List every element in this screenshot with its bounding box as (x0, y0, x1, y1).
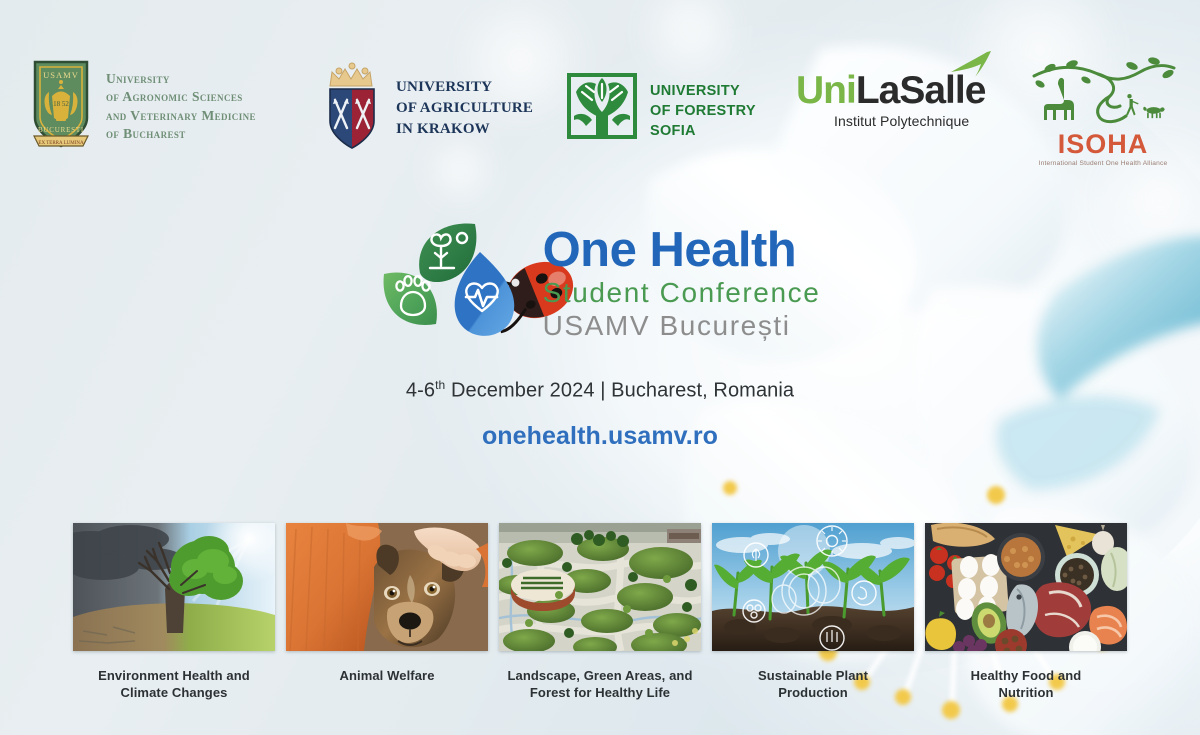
sofia-line-1: UNIVERSITY (650, 81, 756, 101)
isoha-wordmark: ISOHA (1058, 131, 1149, 158)
usamv-line-1: University (106, 70, 256, 89)
logo-university-of-forestry-sofia: UNIVERSITY OF FORESTRY SOFIA (566, 72, 756, 149)
conference-poster: USAMV 18 52 BUCURESTI EX TERRA LUMINA (0, 0, 1200, 735)
topic-caption-line1: Sustainable Plant (712, 667, 914, 684)
topic-image-animal-welfare (286, 523, 488, 651)
topic-caption-line2: Climate Changes (73, 684, 275, 701)
topic-caption-line1: Animal Welfare (286, 667, 488, 684)
sofia-name: UNIVERSITY OF FORESTRY SOFIA (650, 81, 756, 141)
usamv-name: University of Agronomic Sciences and Vet… (106, 70, 256, 144)
logo-unilasalle: UniLaSalle Institut Polytechnique (796, 70, 985, 129)
logo-isoha: ISOHA International Student One Health A… (1028, 50, 1178, 167)
topic-image-landscape-green-areas (499, 523, 701, 651)
date-rest: December 2024 | Bucharest, Romania (445, 380, 794, 402)
sofia-line-3: SOFIA (650, 121, 756, 141)
conference-title: One Health (543, 224, 821, 276)
topic-card[interactable]: Environment Health and Climate Changes (73, 523, 275, 701)
krakow-line-3: IN KRAKOW (396, 119, 533, 140)
krakow-name: UNIVERSITY OF AGRICULTURE IN KRAKOW (396, 77, 533, 140)
topic-caption: Environment Health and Climate Changes (73, 667, 275, 701)
svg-text:EX TERRA LUMINA: EX TERRA LUMINA (38, 141, 84, 146)
conference-date-location: 4-6th December 2024 | Bucharest, Romania (0, 378, 1200, 403)
svg-text:BUCURESTI: BUCURESTI (38, 126, 84, 134)
unilasalle-subtitle: Institut Polytechnique (834, 113, 985, 129)
topic-card[interactable]: Healthy Food and Nutrition (925, 523, 1127, 701)
topic-card[interactable]: Animal Welfare (286, 523, 488, 701)
usamv-line-2: of Agronomic Sciences (106, 88, 256, 107)
sofia-tree-icon (566, 72, 638, 149)
topic-caption: Landscape, Green Areas, and Forest for H… (499, 667, 701, 701)
logo-university-of-agriculture-krakow: UNIVERSITY OF AGRICULTURE IN KRAKOW (320, 60, 533, 157)
isoha-vine-icon (1028, 50, 1178, 133)
svg-text:USAMV: USAMV (43, 70, 79, 80)
partner-logo-strip: USAMV 18 52 BUCURESTI EX TERRA LUMINA (0, 46, 1200, 166)
unilasalle-star-icon (947, 50, 993, 78)
usamv-line-3: and Veterinary Medicine (106, 107, 256, 126)
topic-caption-line2: Nutrition (925, 684, 1127, 701)
topic-card[interactable]: Landscape, Green Areas, and Forest for H… (499, 523, 701, 701)
topic-image-environment-climate (73, 523, 275, 651)
topic-image-sustainable-plant-production (712, 523, 914, 651)
topic-card[interactable]: Sustainable Plant Production (712, 523, 914, 701)
conference-website-url[interactable]: onehealth.usamv.ro (0, 422, 1200, 451)
topic-caption: Healthy Food and Nutrition (925, 667, 1127, 701)
topic-caption-line1: Environment Health and (73, 667, 275, 684)
date-ordinal-suffix: th (435, 378, 445, 392)
conference-titles: One Health Student Conference USAMV Bucu… (543, 224, 821, 342)
topic-caption-line2: Forest for Healthy Life (499, 684, 701, 701)
conference-subtitle: Student Conference (543, 276, 821, 309)
conference-organizer: USAMV București (543, 309, 821, 342)
title-row: One Health Student Conference USAMV Bucu… (0, 218, 1200, 348)
sofia-line-2: OF FORESTRY (650, 101, 756, 121)
svg-text:18 52: 18 52 (53, 100, 69, 108)
topic-image-healthy-food-nutrition (925, 523, 1127, 651)
topics-row: Environment Health and Climate Changes (0, 523, 1200, 701)
krakow-line-2: OF AGRICULTURE (396, 98, 533, 119)
krakow-crest-icon (320, 60, 384, 157)
date-prefix: 4-6 (406, 380, 435, 402)
topic-caption: Animal Welfare (286, 667, 488, 684)
topic-caption: Sustainable Plant Production (712, 667, 914, 701)
topics-section: Environment Health and Climate Changes (0, 523, 1200, 701)
one-health-logo-icon (380, 218, 525, 348)
conference-identity-block: One Health Student Conference USAMV Bucu… (0, 218, 1200, 451)
topic-caption-line1: Healthy Food and (925, 667, 1127, 684)
unilasalle-word-uni: Uni (796, 69, 856, 112)
usamv-crest-icon: USAMV 18 52 BUCURESTI EX TERRA LUMINA (30, 58, 92, 155)
topic-caption-line2: Production (712, 684, 914, 701)
logo-usamv-bucharest: USAMV 18 52 BUCURESTI EX TERRA LUMINA (30, 58, 256, 155)
usamv-line-4: of Bucharest (106, 125, 256, 144)
isoha-subtitle: International Student One Health Allianc… (1039, 160, 1168, 167)
krakow-line-1: UNIVERSITY (396, 77, 533, 98)
topic-caption-line1: Landscape, Green Areas, and (499, 667, 701, 684)
